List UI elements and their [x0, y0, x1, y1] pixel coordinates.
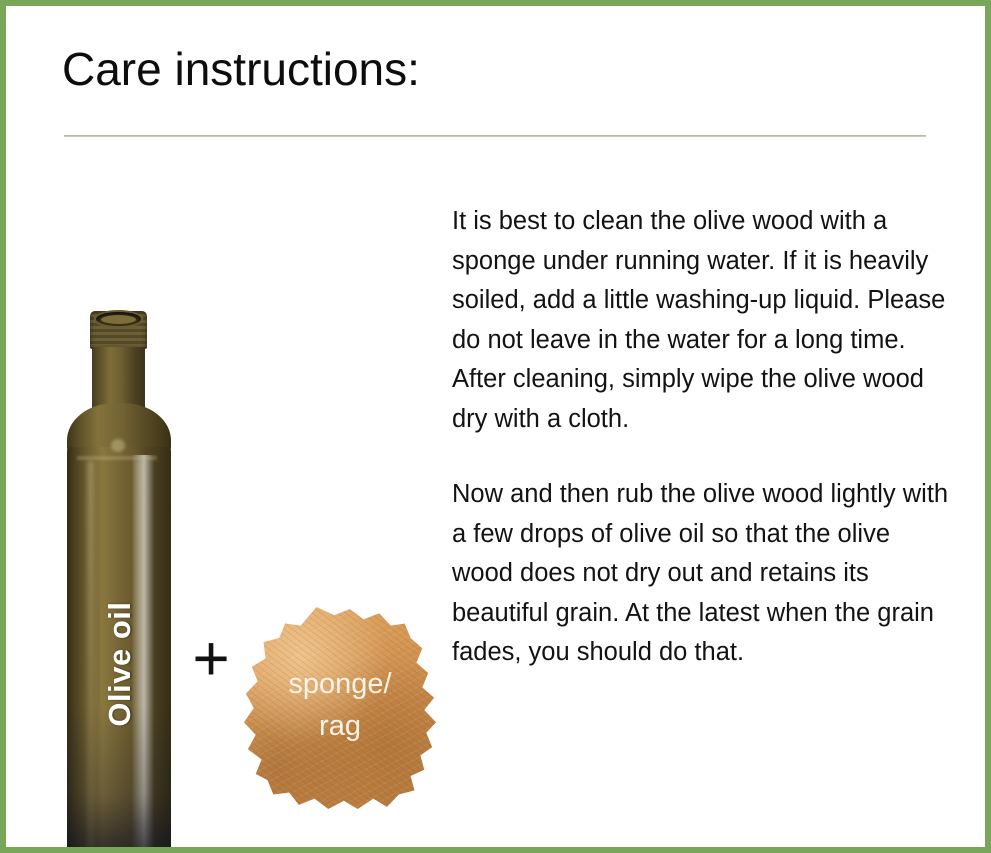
materials-illustration: Olive oil + sponge/ rag	[6, 186, 446, 786]
title-divider	[64, 135, 926, 137]
bottle-mouth-opening	[101, 315, 136, 324]
bottle-label-text: Olive oil	[102, 464, 138, 853]
page-title: Care instructions:	[62, 44, 420, 95]
bottle-neck	[92, 347, 145, 409]
olive-oil-bottle: Olive oil	[63, 311, 175, 853]
slide-frame: Care instructions: Olive oil +	[0, 0, 991, 853]
sponge-rag-graphic: sponge/ rag	[242, 605, 438, 811]
sponge-label: sponge/ rag	[242, 663, 438, 747]
bottle-highlight-left	[87, 461, 94, 853]
sponge-label-line-1: sponge/	[242, 663, 438, 705]
instruction-paragraph-oiling: Now and then rub the olive wood lightly …	[452, 475, 952, 673]
bottle-glass-bubble	[111, 439, 125, 452]
sponge-label-line-2: rag	[242, 705, 438, 747]
slide-content-area: Care instructions: Olive oil +	[6, 6, 985, 847]
instruction-paragraph-cleaning: It is best to clean the olive wood with …	[452, 202, 952, 439]
plus-icon: +	[188, 629, 234, 687]
bottle-shoulder-highlight	[77, 456, 157, 460]
instructions-text-column: It is best to clean the olive wood with …	[452, 202, 952, 673]
